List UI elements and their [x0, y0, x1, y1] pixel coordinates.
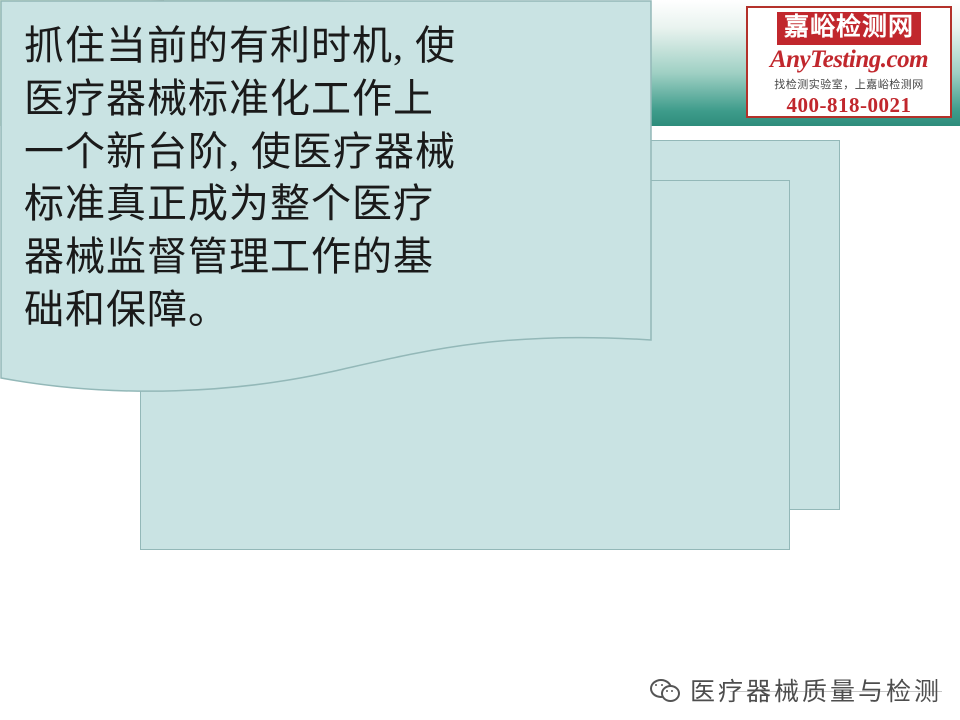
body-line: 抓住当前的有利时机, 使: [24, 20, 624, 73]
body-line: 础和保障。: [24, 284, 624, 337]
body-line: 标准真正成为整个医疗: [24, 178, 624, 231]
footer-watermark-text: 医疗器械质量与检测: [690, 679, 942, 706]
brand-tagline: 找检测实验室，上嘉峪检测网: [748, 76, 950, 92]
brand-name-en: AnyTesting.com: [748, 47, 950, 73]
brand-name-cn: 嘉峪检测网: [777, 12, 921, 45]
card-front: 抓住当前的有利时机, 使 医疗器械标准化工作上 一个新台阶, 使医疗器械 标准真…: [0, 0, 652, 445]
slide: erieux 嘉峪检测网 AnyTesting.com 找检测实验室，上嘉峪检测…: [0, 0, 960, 720]
footer-strike-line: [730, 691, 942, 692]
footer-watermark: 医疗器械质量与检测: [650, 672, 942, 708]
brand-phone: 400-818-0021: [748, 93, 950, 118]
wechat-icon: [650, 677, 680, 703]
body-line: 器械监督管理工作的基: [24, 231, 624, 284]
body-line: 医疗器械标准化工作上: [24, 73, 624, 126]
body-line: 一个新台阶, 使医疗器械: [24, 126, 624, 179]
brand-logo-box[interactable]: 嘉峪检测网 AnyTesting.com 找检测实验室，上嘉峪检测网 400-8…: [746, 6, 952, 118]
slide-body-text: 抓住当前的有利时机, 使 医疗器械标准化工作上 一个新台阶, 使医疗器械 标准真…: [24, 20, 624, 337]
